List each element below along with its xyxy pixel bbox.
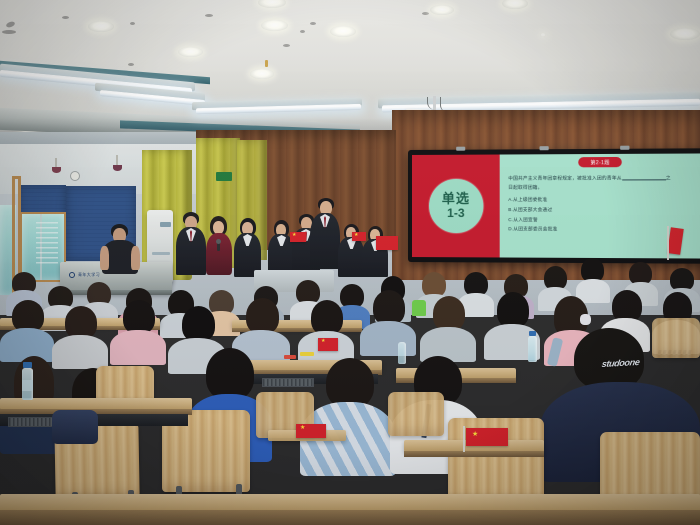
face-mask [580,314,591,325]
ceiling-stain [2,30,16,34]
green-prop [412,300,426,316]
display-mount-clip [620,146,629,150]
option-c[interactable]: C.从入团宣誓 [508,215,695,225]
audience-member [360,290,416,354]
person-suited-1 [176,212,206,274]
person-suited-3 [268,220,294,276]
slide-canvas: 单选 1-3 第2-1题 中国共产主义青年团章程规定，被批准入团的青年从之 日起… [412,153,700,258]
marker-pen [284,355,296,359]
exit-sign [216,172,232,181]
air-conditioner-vent [160,222,171,227]
category-type-label: 单选 [442,192,470,207]
flag-emblem-icon: ★ [472,431,478,438]
highlighter [300,352,314,356]
ceiling-stain [130,22,135,25]
display-mount-clip [456,147,465,151]
flag-emblem-icon: ★ [354,233,358,238]
presentation-display[interactable]: 单选 1-3 第2-1题 中国共产主义青年团章程规定，被批准入团的青年从之 日起… [408,148,700,263]
question-number-badge: 第2-1题 [578,157,622,167]
ceiling-stain [310,22,316,25]
bottle-cap [23,362,32,368]
microphone-head [216,239,221,244]
jacket-logo-text: studoone [601,357,640,369]
downlight [330,26,356,37]
flag-emblem-icon: ★ [300,425,305,431]
question-stem-part2: 之 [666,175,671,180]
person-standing-left [100,224,140,272]
water-bottle [528,336,537,362]
chair[interactable] [652,318,700,358]
flag-pole [667,226,669,260]
desk-flag [376,236,398,250]
ceiling-stain [283,44,290,47]
lectern-emblem [69,272,75,278]
person-with-microphone [205,216,233,274]
ceiling-stain [62,16,69,19]
desk-front-edge [0,510,700,525]
downlight [670,28,700,40]
audience-member [0,300,54,360]
downlight [540,33,546,37]
question-blank [622,179,666,180]
chair[interactable] [388,392,444,436]
downlight [430,5,454,15]
question-stem-part3: 日起取得团籍。 [508,184,542,189]
sprinkler-head [265,60,268,67]
audience-member [420,296,476,360]
audience-member [110,300,166,364]
question-category-badge: 单选 1-3 [429,179,483,233]
person-suited-2 [234,218,261,276]
bottle-label [22,380,33,391]
bottle-cap [529,331,536,336]
downlight [178,47,203,57]
person-suited-5 [310,198,340,270]
window-exterior-rail [36,222,58,264]
desk-edge [404,451,544,457]
option-a[interactable]: A.从上级团委批准 [508,195,695,205]
ceiling-stain [205,14,213,17]
downlight [88,21,114,32]
downlight [250,69,274,79]
ceiling-stain [128,63,134,66]
air-conditioner-vent [152,252,170,255]
category-range-label: 1-3 [447,207,464,221]
wall-clock [70,171,80,181]
downlight [261,20,288,31]
flag-emblem-icon: ★ [321,339,325,344]
question-stem: 中国共产主义青年团章程规定，被批准入团的青年从之 日起取得团籍。 [508,174,695,192]
option-b[interactable]: B.从团支部大会通过 [508,205,695,215]
ceiling-stain [300,30,305,33]
audience-member-front-striped [300,358,396,474]
flag-pole [463,426,465,452]
classroom-photo-scene: 单选 1-3 第2-1题 中国共产主义青年团章程规定，被批准入团的青年从之 日起… [0,0,700,525]
question-stem-part1: 中国共产主义青年团章程规定，被批准入团的青年从 [508,175,622,180]
flag-emblem-icon: ★ [292,233,296,238]
lectern-label: 青年大学习 [78,272,100,278]
ceiling-stain [422,12,429,15]
slide-left-panel: 单选 1-3 [412,155,500,258]
backpack [52,410,98,444]
display-mount-clip [539,146,548,150]
